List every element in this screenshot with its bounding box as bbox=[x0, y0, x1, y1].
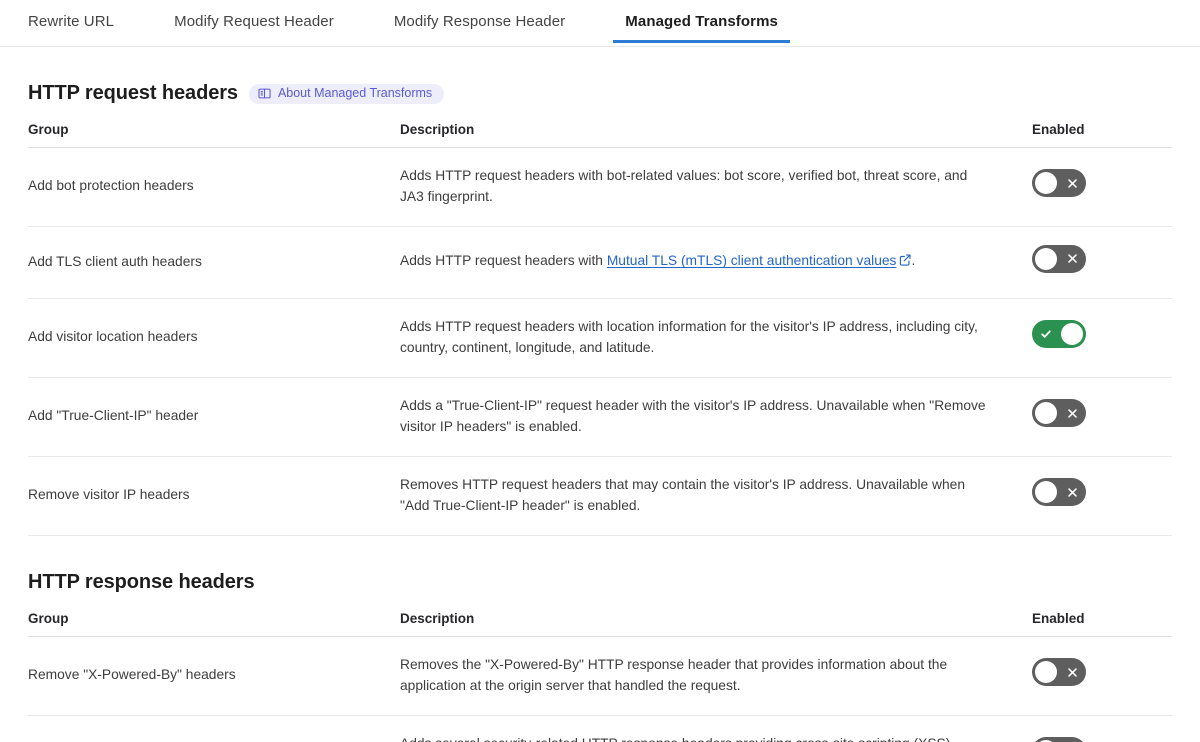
tab-label: Rewrite URL bbox=[28, 13, 114, 30]
row-description: Adds several security-related HTTP respo… bbox=[400, 715, 1032, 742]
row-description: Removes the "X-Powered-By" HTTP response… bbox=[400, 636, 1032, 715]
tab-managed-transforms[interactable]: Managed Transforms bbox=[625, 13, 778, 43]
cross-icon bbox=[1058, 399, 1086, 427]
http-request-headers-section: HTTP request headers About Managed Trans… bbox=[0, 82, 1200, 536]
row-group-name: Add TLS client auth headers bbox=[28, 226, 400, 298]
book-icon bbox=[258, 87, 271, 100]
toggle-remove-visitor-ip-headers[interactable] bbox=[1032, 478, 1086, 506]
toggle-knob bbox=[1035, 172, 1057, 194]
row-enabled-cell bbox=[1032, 298, 1172, 377]
row-description-prefix: Adds HTTP request headers with bbox=[400, 253, 607, 268]
about-managed-transforms-badge[interactable]: About Managed Transforms bbox=[249, 84, 444, 104]
toggle-remove-x-powered-by-headers[interactable] bbox=[1032, 658, 1086, 686]
toggle-knob bbox=[1061, 323, 1083, 345]
table-row: Remove visitor IP headers Removes HTTP r… bbox=[28, 456, 1172, 535]
tab-modify-response-header[interactable]: Modify Response Header bbox=[394, 13, 565, 43]
tab-label: Modify Request Header bbox=[174, 13, 334, 30]
toggle-knob bbox=[1035, 661, 1057, 683]
toggle-add-bot-protection-headers[interactable] bbox=[1032, 169, 1086, 197]
table-header-row: Group Description Enabled bbox=[28, 611, 1172, 637]
cross-icon bbox=[1058, 169, 1086, 197]
external-link-icon[interactable] bbox=[899, 252, 911, 273]
row-group-name: Add bot protection headers bbox=[28, 148, 400, 227]
column-header-group: Group bbox=[28, 611, 400, 637]
row-description: Adds a "True-Client-IP" request header w… bbox=[400, 377, 1032, 456]
tab-label: Modify Response Header bbox=[394, 13, 565, 30]
column-header-enabled: Enabled bbox=[1032, 611, 1172, 637]
row-description: Adds HTTP request headers with location … bbox=[400, 298, 1032, 377]
row-enabled-cell bbox=[1032, 377, 1172, 456]
http-response-headers-section: HTTP response headers Group Description … bbox=[0, 571, 1200, 742]
cross-icon bbox=[1058, 658, 1086, 686]
row-group-name: Add "True-Client-IP" header bbox=[28, 377, 400, 456]
row-enabled-cell bbox=[1032, 226, 1172, 298]
row-description-suffix: . bbox=[911, 253, 915, 268]
row-group-name: Add visitor location headers bbox=[28, 298, 400, 377]
about-badge-label: About Managed Transforms bbox=[278, 87, 432, 100]
response-headers-table: Group Description Enabled Remove "X-Powe… bbox=[28, 611, 1172, 742]
cross-icon bbox=[1058, 737, 1086, 742]
request-headers-table: Group Description Enabled Add bot protec… bbox=[28, 122, 1172, 536]
row-group-name: Remove visitor IP headers bbox=[28, 456, 400, 535]
cross-icon bbox=[1058, 245, 1086, 273]
toggle-add-security-headers[interactable] bbox=[1032, 737, 1086, 742]
response-section-header: HTTP response headers bbox=[28, 571, 1172, 594]
toggle-knob bbox=[1035, 248, 1057, 270]
tab-label: Managed Transforms bbox=[625, 13, 778, 30]
row-enabled-cell bbox=[1032, 456, 1172, 535]
table-header-row: Group Description Enabled bbox=[28, 122, 1172, 148]
tab-modify-request-header[interactable]: Modify Request Header bbox=[174, 13, 334, 43]
row-enabled-cell bbox=[1032, 715, 1172, 742]
table-row: Add "True-Client-IP" header Adds a "True… bbox=[28, 377, 1172, 456]
toggle-add-visitor-location-headers[interactable] bbox=[1032, 320, 1086, 348]
page-title: HTTP request headers bbox=[28, 82, 238, 105]
toggle-add-tls-client-auth-headers[interactable] bbox=[1032, 245, 1086, 273]
toggle-knob bbox=[1035, 402, 1057, 424]
column-header-description: Description bbox=[400, 122, 1032, 148]
row-enabled-cell bbox=[1032, 636, 1172, 715]
row-description: Adds HTTP request headers with bot-relat… bbox=[400, 148, 1032, 227]
row-description: Adds HTTP request headers with Mutual TL… bbox=[400, 226, 1032, 298]
column-header-description: Description bbox=[400, 611, 1032, 637]
row-enabled-cell bbox=[1032, 148, 1172, 227]
toggle-knob bbox=[1035, 481, 1057, 503]
response-section-title: HTTP response headers bbox=[28, 571, 255, 594]
mtls-documentation-link[interactable]: Mutual TLS (mTLS) client authentication … bbox=[607, 253, 897, 268]
transform-rules-tabbar: Rewrite URL Modify Request Header Modify… bbox=[0, 0, 1200, 47]
toggle-add-true-client-ip-header[interactable] bbox=[1032, 399, 1086, 427]
table-row: Add visitor location headers Adds HTTP r… bbox=[28, 298, 1172, 377]
check-icon bbox=[1032, 320, 1060, 348]
row-description: Removes HTTP request headers that may co… bbox=[400, 456, 1032, 535]
row-group-name: Remove "X-Powered-By" headers bbox=[28, 636, 400, 715]
row-group-name: Add security headers bbox=[28, 715, 400, 742]
column-header-enabled: Enabled bbox=[1032, 122, 1172, 148]
table-row: Add security headers Adds several securi… bbox=[28, 715, 1172, 742]
table-row: Remove "X-Powered-By" headers Removes th… bbox=[28, 636, 1172, 715]
table-row: Add TLS client auth headers Adds HTTP re… bbox=[28, 226, 1172, 298]
table-row: Add bot protection headers Adds HTTP req… bbox=[28, 148, 1172, 227]
request-section-header: HTTP request headers About Managed Trans… bbox=[28, 82, 1172, 105]
column-header-group: Group bbox=[28, 122, 400, 148]
tab-rewrite-url[interactable]: Rewrite URL bbox=[28, 13, 114, 43]
cross-icon bbox=[1058, 478, 1086, 506]
